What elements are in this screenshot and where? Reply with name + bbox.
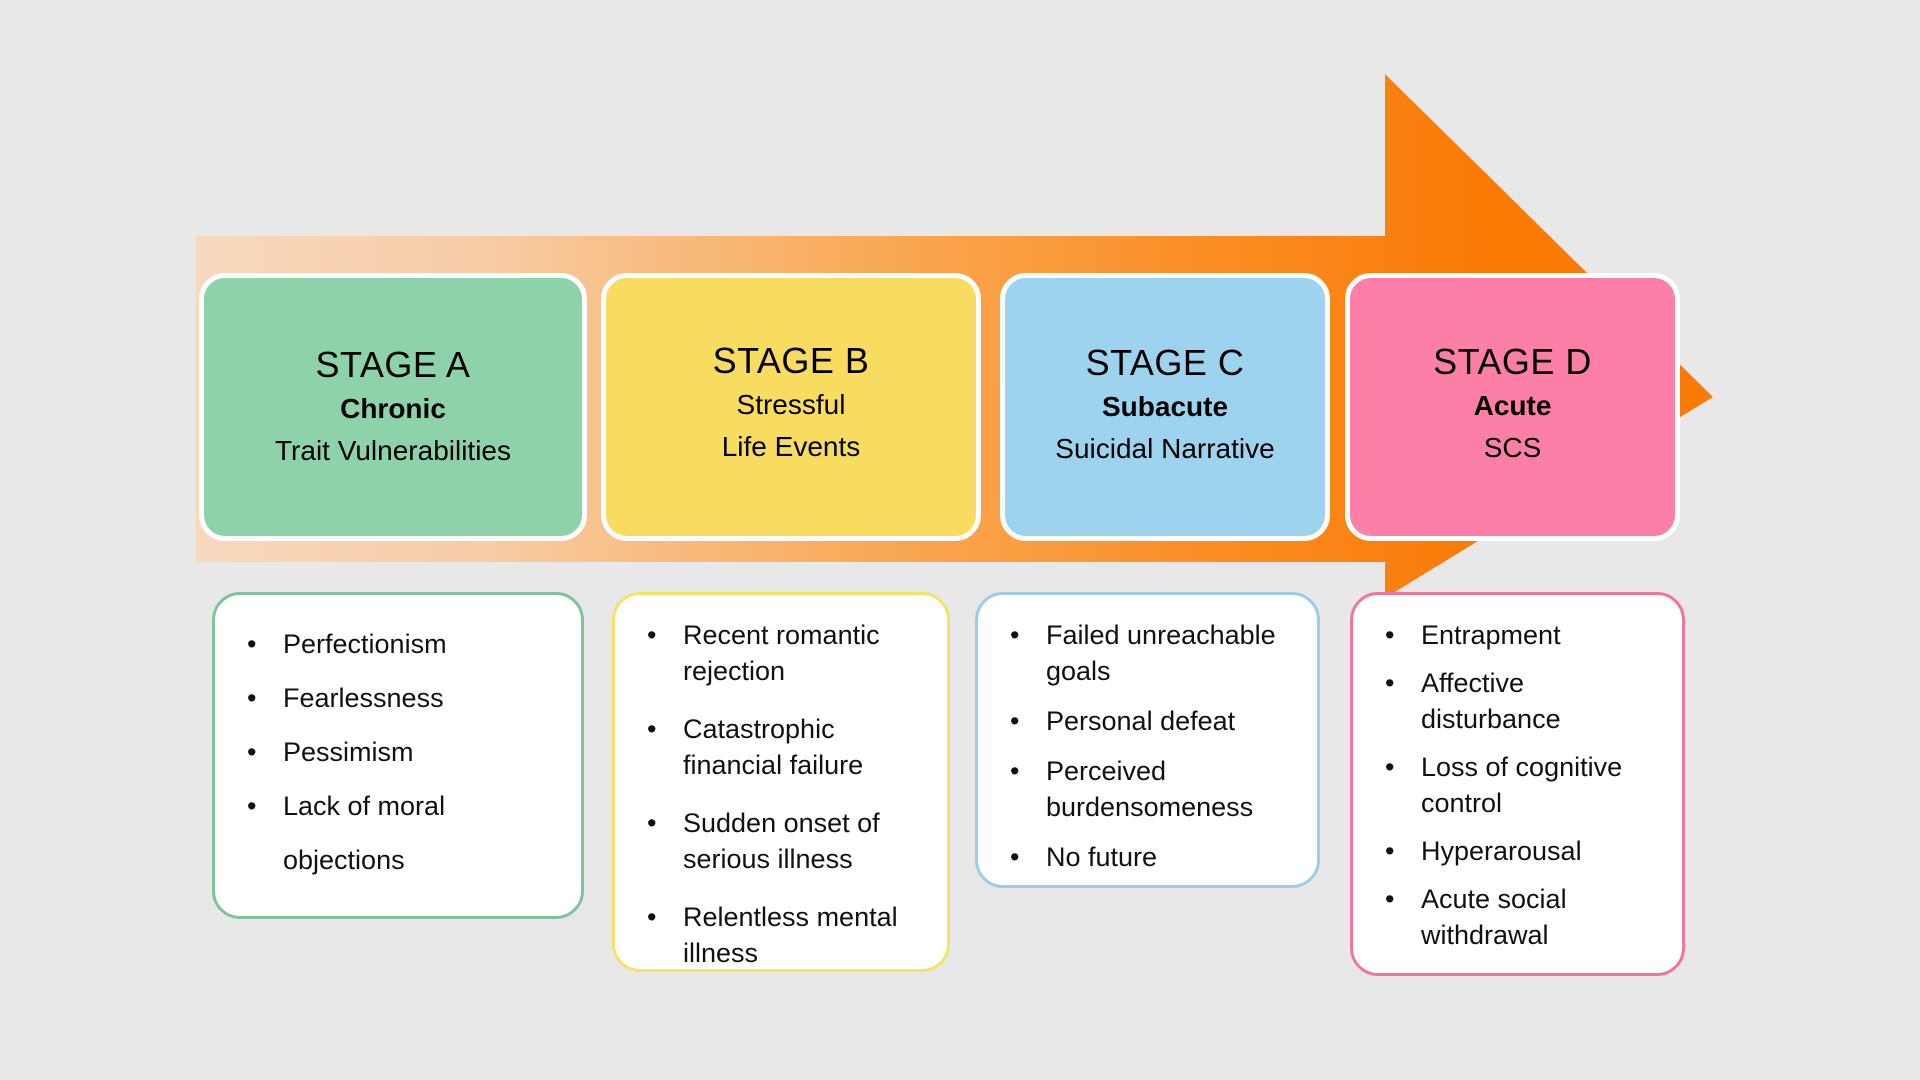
list-item: •Loss of cognitive control <box>1367 749 1666 833</box>
list-item: •Recent romantic rejection <box>629 617 931 711</box>
list-item-label: Relentless mental illness <box>683 902 898 968</box>
list-item: •Lack of moral objections <box>229 779 565 887</box>
list-item-label: Acute social withdrawal <box>1421 884 1567 950</box>
list-item-label: Hyperarousal <box>1421 836 1582 866</box>
stage-box-d[interactable]: STAGE D Acute SCS <box>1345 273 1680 541</box>
list-item: •Fearlessness <box>229 671 565 725</box>
list-item: •Failed unreachable goals <box>992 617 1301 703</box>
stage-b-subtitle-line2: Life Events <box>722 426 861 468</box>
stage-b-subtitle: Stressful <box>737 384 846 426</box>
bullet-icon: • <box>647 805 656 841</box>
stage-c-title: STAGE C <box>1086 340 1245 386</box>
stage-boxes-row: STAGE A Chronic Trait Vulnerabilities ST… <box>0 273 1920 543</box>
list-item: •Sudden onset of serious illness <box>629 805 931 899</box>
list-item-label: Failed unreachable goals <box>1046 620 1276 686</box>
stage-d-list: •Entrapment •Affective disturbance •Loss… <box>1367 617 1666 965</box>
bullet-icon: • <box>1385 749 1394 785</box>
stage-a-list: •Perfectionism •Fearlessness •Pessimism … <box>229 617 565 887</box>
list-item-label: Entrapment <box>1421 620 1561 650</box>
list-item-label: No future <box>1046 842 1157 872</box>
list-item: •Entrapment <box>1367 617 1666 665</box>
stage-box-b[interactable]: STAGE B Stressful Life Events <box>601 273 981 541</box>
stage-d-subtitle-bold: Acute <box>1474 385 1552 427</box>
list-item: •Perceived burdensomeness <box>992 753 1301 839</box>
bullet-icon: • <box>247 779 256 833</box>
list-item: •No future <box>992 839 1301 889</box>
stage-d-subtitle: SCS <box>1484 427 1542 469</box>
bullet-icon: • <box>647 711 656 747</box>
list-item: •Acute social withdrawal <box>1367 881 1666 965</box>
bullet-icon: • <box>1010 703 1019 739</box>
list-item-label: Loss of cognitive control <box>1421 752 1622 818</box>
list-item: •Relentless mental illness <box>629 899 931 993</box>
bullet-icon: • <box>647 899 656 935</box>
bullet-icon: • <box>1385 665 1394 701</box>
stage-box-c[interactable]: STAGE C Subacute Suicidal Narrative <box>1000 273 1330 541</box>
stage-a-subtitle: Trait Vulnerabilities <box>275 430 511 472</box>
bullet-icon: • <box>647 617 656 653</box>
bullet-icon: • <box>247 617 256 671</box>
bullet-icon: • <box>1010 753 1019 789</box>
list-item: •Perfectionism <box>229 617 565 671</box>
list-item-label: Recent romantic rejection <box>683 620 880 686</box>
list-item: •Catastrophic financial failure <box>629 711 931 805</box>
bullet-icon: • <box>1010 839 1019 875</box>
list-item-label: Lack of moral objections <box>283 791 445 875</box>
bullet-icon: • <box>1385 617 1394 653</box>
stage-b-list: •Recent romantic rejection •Catastrophic… <box>629 617 931 993</box>
stage-c-detail-box: •Failed unreachable goals •Personal defe… <box>975 592 1320 888</box>
stage-a-subtitle-bold: Chronic <box>340 388 446 430</box>
list-item-label: Catastrophic financial failure <box>683 714 863 780</box>
stage-c-subtitle: Suicidal Narrative <box>1055 428 1274 470</box>
stage-d-title: STAGE D <box>1433 339 1592 385</box>
list-item-label: Pessimism <box>283 737 414 767</box>
stage-c-subtitle-bold: Subacute <box>1102 386 1228 428</box>
stage-d-detail-box: •Entrapment •Affective disturbance •Loss… <box>1350 592 1685 976</box>
list-item: •Personal defeat <box>992 703 1301 753</box>
list-item: •Pessimism <box>229 725 565 779</box>
list-item: •Affective disturbance <box>1367 665 1666 749</box>
stage-c-list: •Failed unreachable goals •Personal defe… <box>992 617 1301 889</box>
detail-lists-row: •Perfectionism •Fearlessness •Pessimism … <box>0 592 1920 992</box>
bullet-icon: • <box>247 671 256 725</box>
stage-b-detail-box: •Recent romantic rejection •Catastrophic… <box>612 592 950 972</box>
bullet-icon: • <box>1385 833 1394 869</box>
list-item-label: Affective disturbance <box>1421 668 1561 734</box>
list-item-label: Sudden onset of serious illness <box>683 808 880 874</box>
list-item-label: Personal defeat <box>1046 706 1235 736</box>
stage-a-title: STAGE A <box>316 342 471 388</box>
diagram-canvas: STAGE A Chronic Trait Vulnerabilities ST… <box>0 0 1920 1080</box>
stage-b-title: STAGE B <box>713 338 870 384</box>
bullet-icon: • <box>247 725 256 779</box>
list-item-label: Fearlessness <box>283 683 444 713</box>
stage-box-a[interactable]: STAGE A Chronic Trait Vulnerabilities <box>199 273 587 541</box>
list-item: •Hyperarousal <box>1367 833 1666 881</box>
list-item-label: Perfectionism <box>283 629 447 659</box>
list-item-label: Perceived burdensomeness <box>1046 756 1253 822</box>
bullet-icon: • <box>1010 617 1019 653</box>
bullet-icon: • <box>1385 881 1394 917</box>
stage-a-detail-box: •Perfectionism •Fearlessness •Pessimism … <box>212 592 584 919</box>
